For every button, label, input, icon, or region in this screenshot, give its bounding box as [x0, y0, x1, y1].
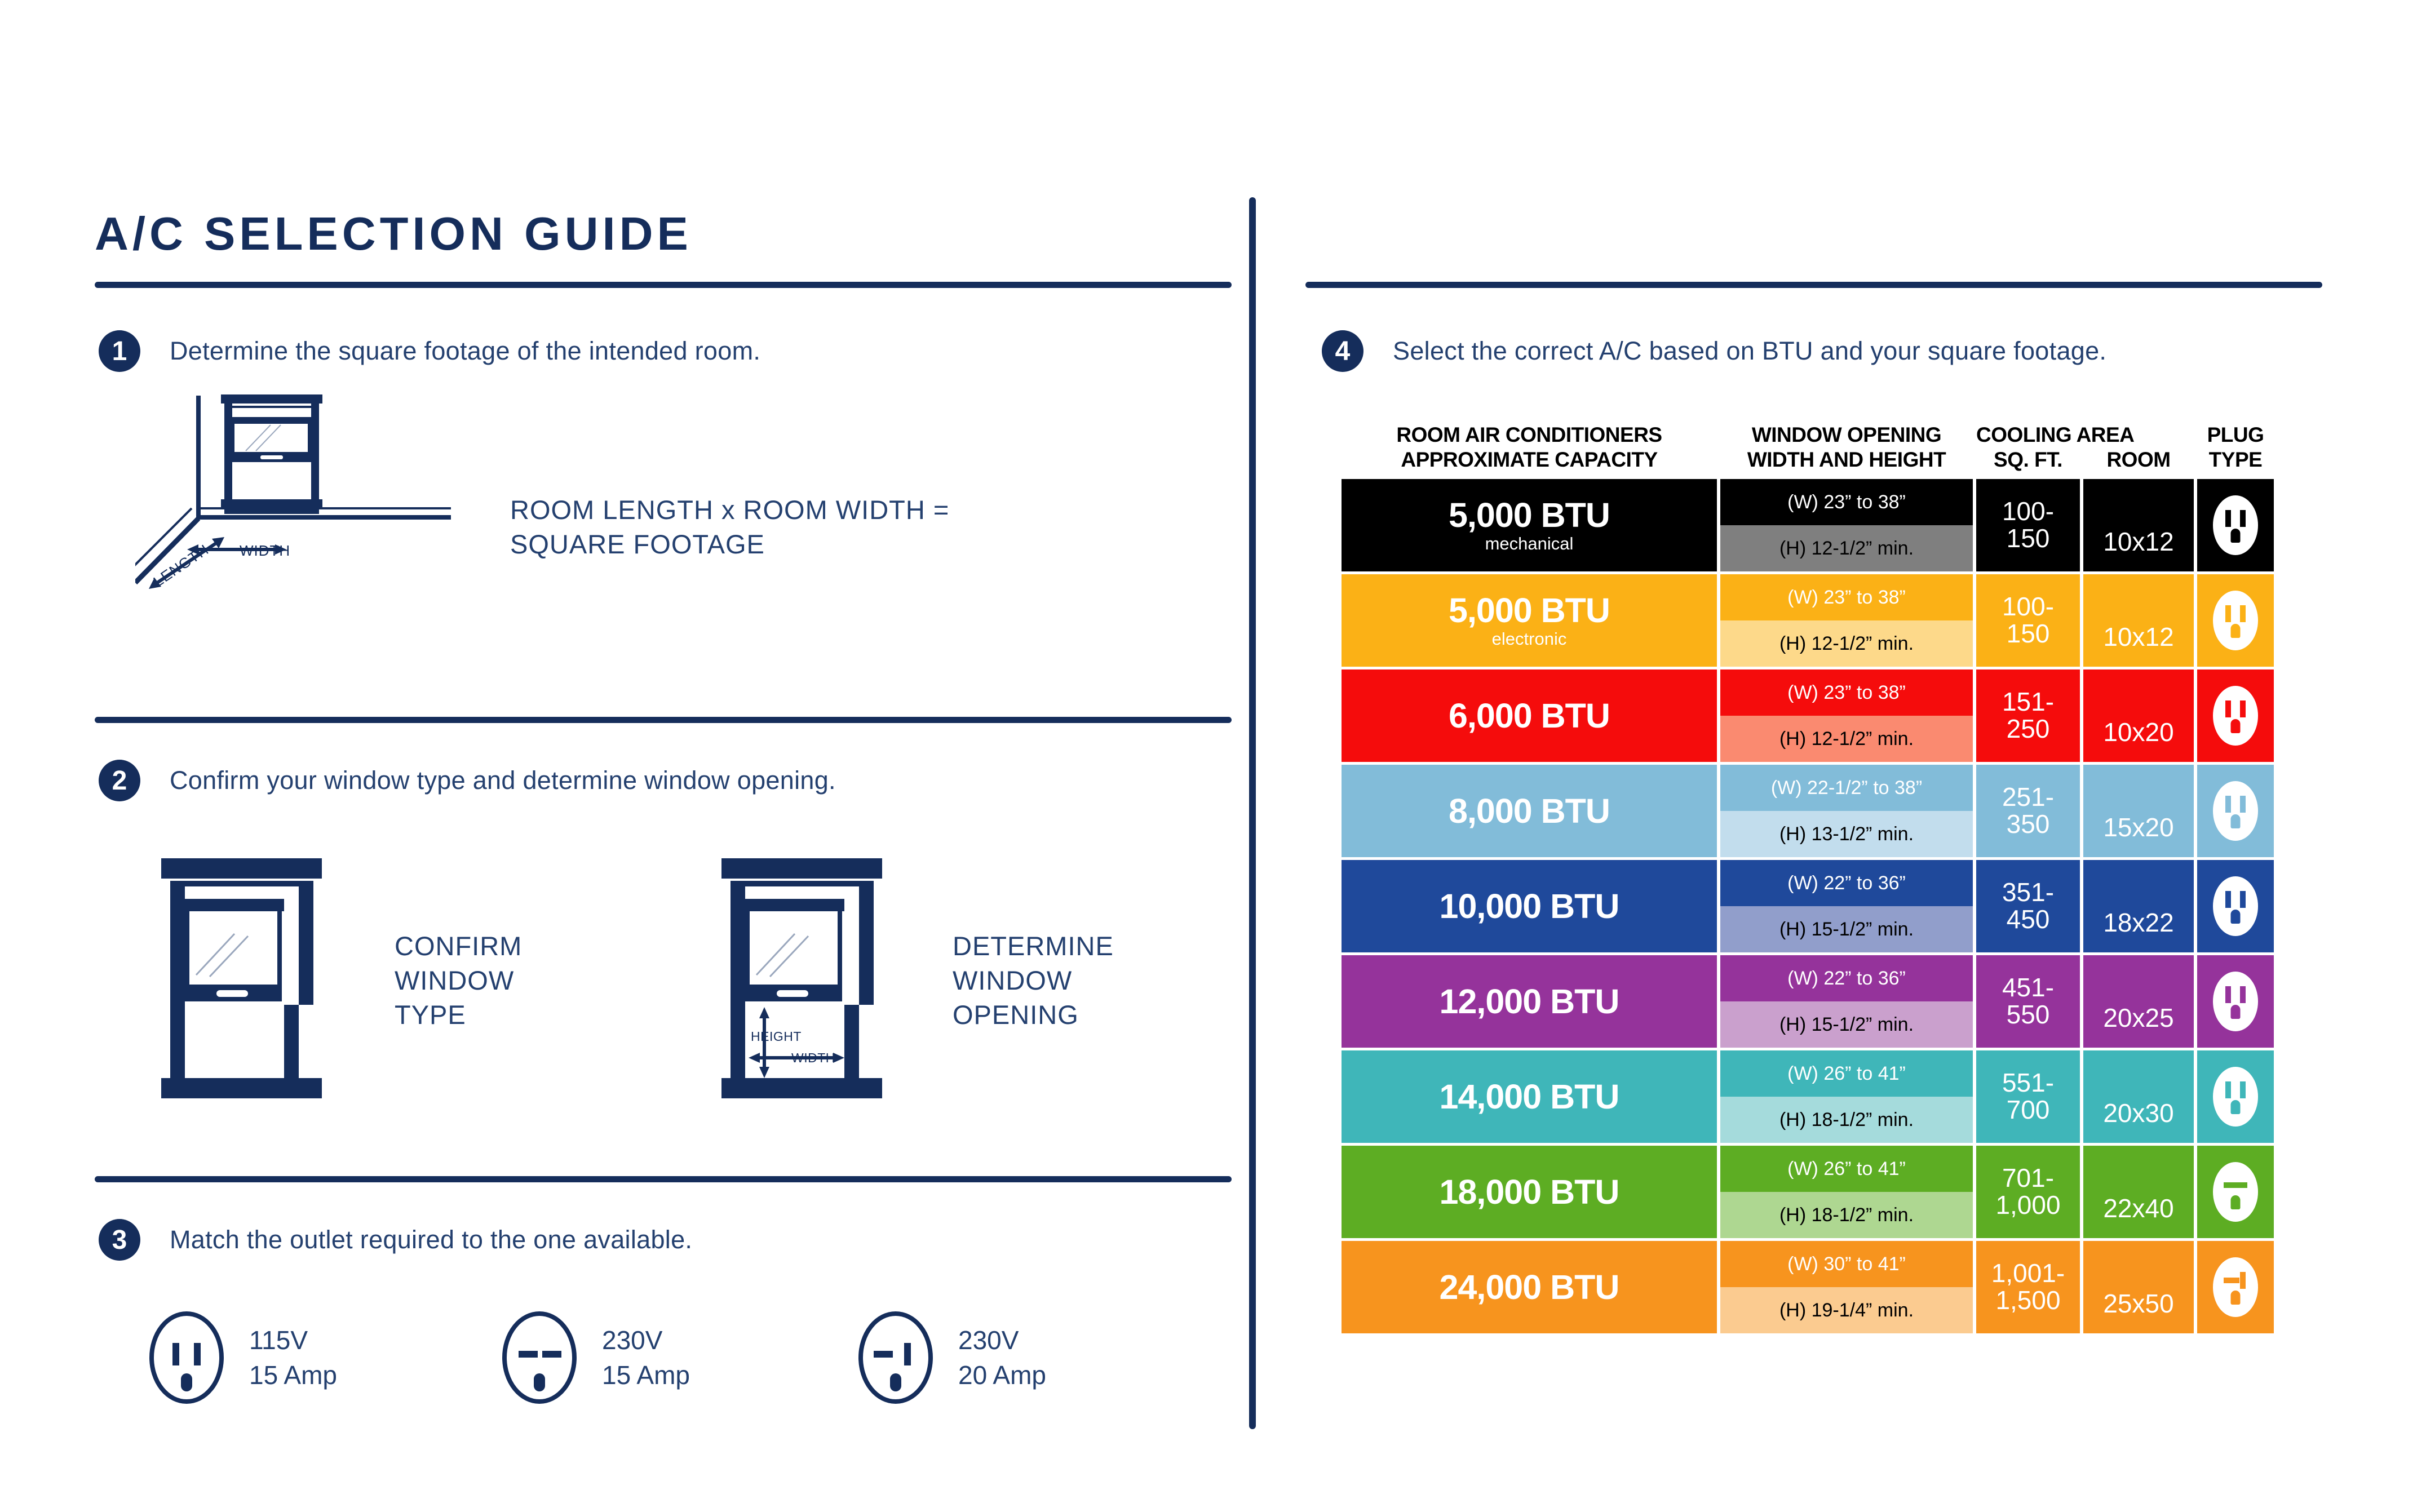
room-size-value: 10x20	[2103, 719, 2173, 745]
table-row[interactable]: 5,000 BTUelectronic(W) 23” to 38”(H) 12-…	[1342, 574, 2322, 667]
window-width-value: (W) 22-1/2” to 38”	[1720, 765, 1973, 811]
window-width-value: (W) 30” to 41”	[1720, 1241, 1973, 1287]
window-height-value: (H) 12-1/2” min.	[1720, 716, 1973, 762]
room-size-value: 22x40	[2103, 1195, 2173, 1221]
plug-slot	[2240, 1081, 2246, 1098]
btu-value: 5,000 BTU	[1449, 498, 1610, 533]
room-size-value: 25x50	[2103, 1291, 2173, 1316]
divider-rule-3	[95, 1176, 1232, 1182]
btu-value: 18,000 BTU	[1440, 1175, 1619, 1209]
btu-value: 10,000 BTU	[1440, 889, 1619, 924]
plug-face	[2213, 686, 2258, 746]
step-1: 1 Determine the square footage of the in…	[99, 330, 760, 372]
cell-plug-type	[2197, 765, 2274, 857]
step-4: 4 Select the correct A/C based on BTU an…	[1322, 330, 2106, 372]
cell-plug-type	[2197, 669, 2274, 762]
btu-value: 6,000 BTU	[1449, 699, 1610, 733]
btu-value: 14,000 BTU	[1440, 1080, 1619, 1114]
caption-b-line1: DETERMINE	[953, 929, 1114, 963]
sqft-value: 551-700	[2002, 1070, 2054, 1124]
plug-slot	[2225, 1081, 2231, 1098]
cell-capacity: 10,000 BTU	[1342, 860, 1717, 952]
btu-subtype: mechanical	[1485, 535, 1574, 552]
window-height-value: (H) 15-1/2” min.	[1720, 906, 1973, 952]
plug-ground-slot	[2231, 529, 2241, 543]
window-height-value: (H) 15-1/2” min.	[1720, 1001, 1973, 1048]
cell-capacity: 24,000 BTU	[1342, 1241, 1717, 1333]
room-size-value: 15x20	[2103, 814, 2173, 840]
table-row[interactable]: 18,000 BTU(W) 26” to 41”(H) 18-1/2” min.…	[1342, 1146, 2322, 1238]
window-width-value: (W) 26” to 41”	[1720, 1050, 1973, 1097]
plug-slot	[2240, 986, 2246, 1003]
btu-value: 24,000 BTU	[1440, 1270, 1619, 1305]
cell-window-opening: (W) 26” to 41”(H) 18-1/2” min.	[1720, 1146, 1973, 1238]
plug-slot	[2225, 605, 2231, 622]
sqft-value: 1,001-1,500	[1991, 1260, 2065, 1314]
cell-room-size: 25x50	[2083, 1241, 2194, 1333]
cell-capacity: 14,000 BTU	[1342, 1050, 1717, 1143]
room-size-value: 10x12	[2103, 624, 2173, 650]
sqft-value: 100-150	[2002, 593, 2054, 648]
outlet-1-volt: 115V	[249, 1323, 337, 1358]
cell-sqft: 451-550	[1976, 955, 2080, 1048]
cell-room-size: 20x30	[2083, 1050, 2194, 1143]
plug-slot	[2225, 796, 2231, 813]
sqft-value: 351-450	[2002, 879, 2054, 933]
outlet-230v-20a-icon	[857, 1310, 935, 1405]
plug-ground-slot	[2231, 1291, 2241, 1305]
table-header-row: ROOM AIR CONDITIONERS APPROXIMATE CAPACI…	[1342, 423, 2322, 472]
step-2-badge: 2	[99, 760, 140, 801]
cell-window-opening: (W) 22-1/2” to 38”(H) 13-1/2” min.	[1720, 765, 1973, 857]
plug-face	[2213, 1257, 2258, 1317]
outlet-2-amp: 15 Amp	[602, 1358, 690, 1393]
cell-sqft: 100-150	[1976, 479, 2080, 571]
window-height-value: (H) 18-1/2” min.	[1720, 1192, 1973, 1238]
outlet-1-amp: 15 Amp	[249, 1358, 337, 1393]
cell-plug-type	[2197, 479, 2274, 571]
outlet-1-label: 115V 15 Amp	[249, 1323, 337, 1393]
ac-selection-table: ROOM AIR CONDITIONERS APPROXIMATE CAPACI…	[1342, 423, 2322, 1333]
plug-ground-slot	[2231, 719, 2241, 733]
cell-room-size: 15x20	[2083, 765, 2194, 857]
sqft-value: 701-1,000	[1995, 1165, 2060, 1219]
outlet-option-115v-15a: 115V 15 Amp	[148, 1310, 337, 1405]
room-size-value: 10x12	[2103, 529, 2173, 555]
step-1-badge: 1	[99, 330, 140, 372]
step-4-badge: 4	[1322, 330, 1363, 372]
cell-capacity: 6,000 BTU	[1342, 669, 1717, 762]
height-label: HEIGHT	[751, 1029, 802, 1044]
room-diagram: WIDTH LENGTH	[135, 389, 530, 676]
caption-b-line3: OPENING	[953, 997, 1114, 1032]
outlet-2-volt: 230V	[602, 1323, 690, 1358]
plug-ground-slot	[2231, 1100, 2241, 1114]
cell-plug-type	[2197, 860, 2274, 952]
caption-a-line2: WINDOW	[395, 963, 522, 997]
cell-room-size: 10x12	[2083, 479, 2194, 571]
plug-ground-slot	[2231, 1005, 2241, 1019]
caption-a-line3: TYPE	[395, 997, 522, 1032]
formula-line-1: ROOM LENGTH x ROOM WIDTH =	[510, 493, 949, 527]
header-cooling-area-sqft: COOLING AREA SQ. FT.	[1976, 423, 2080, 472]
plug-ground-slot	[2231, 814, 2241, 828]
sqft-value: 151-250	[2002, 689, 2054, 743]
cell-window-opening: (W) 22” to 36”(H) 15-1/2” min.	[1720, 860, 1973, 952]
width-label-b: WIDTH	[791, 1050, 835, 1065]
step-3-text: Match the outlet required to the one ava…	[170, 1225, 692, 1254]
cell-sqft: 100-150	[1976, 574, 2080, 667]
table-row[interactable]: 12,000 BTU(W) 22” to 36”(H) 15-1/2” min.…	[1342, 955, 2322, 1048]
cell-sqft: 351-450	[1976, 860, 2080, 952]
step-4-text: Select the correct A/C based on BTU and …	[1393, 336, 2106, 366]
outlet-230v-15a-icon	[501, 1310, 578, 1405]
plug-face	[2213, 1067, 2258, 1127]
plug-slot	[2232, 1182, 2247, 1188]
window-type-caption: CONFIRM WINDOW TYPE	[395, 929, 522, 1032]
window-height-value: (H) 12-1/2” min.	[1720, 620, 1973, 667]
plug-slot	[2225, 891, 2231, 908]
width-label: WIDTH	[240, 542, 290, 559]
outlet-3-label: 230V 20 Amp	[958, 1323, 1046, 1393]
plug-face	[2213, 495, 2258, 555]
cell-plug-type	[2197, 1241, 2274, 1333]
outlet-3-amp: 20 Amp	[958, 1358, 1046, 1393]
divider-rule-1	[95, 282, 1232, 288]
outlet-3-volt: 230V	[958, 1323, 1046, 1358]
cell-window-opening: (W) 23” to 38”(H) 12-1/2” min.	[1720, 669, 1973, 762]
cell-plug-type	[2197, 955, 2274, 1048]
plug-face	[2213, 591, 2258, 650]
window-type-diagram	[156, 837, 365, 1119]
divider-rule-4	[1305, 282, 2322, 288]
plug-slot	[2240, 510, 2246, 527]
cell-plug-type	[2197, 1146, 2274, 1238]
left-panel: A/C SELECTION GUIDE 1 Determine the squa…	[0, 0, 1263, 1512]
btu-subtype: electronic	[1492, 630, 1567, 648]
room-size-value: 18x22	[2103, 910, 2173, 935]
table-row[interactable]: 5,000 BTUmechanical(W) 23” to 38”(H) 12-…	[1342, 479, 2322, 571]
plug-ground-slot	[2231, 1195, 2241, 1209]
plug-face	[2213, 781, 2258, 841]
cell-window-opening: (W) 30” to 41”(H) 19-1/4” min.	[1720, 1241, 1973, 1333]
step-3-badge: 3	[99, 1219, 140, 1261]
step-2: 2 Confirm your window type and determine…	[99, 760, 836, 801]
window-width-value: (W) 22” to 36”	[1720, 860, 1973, 906]
plug-slot	[2240, 1272, 2246, 1289]
square-footage-formula: ROOM LENGTH x ROOM WIDTH = SQUARE FOOTAG…	[510, 493, 949, 561]
cell-sqft: 151-250	[1976, 669, 2080, 762]
length-label: LENGTH	[150, 541, 212, 590]
table-row[interactable]: 8,000 BTU(W) 22-1/2” to 38”(H) 13-1/2” m…	[1342, 765, 2322, 857]
room-size-value: 20x30	[2103, 1100, 2173, 1126]
cell-sqft: 551-700	[1976, 1050, 2080, 1143]
cell-plug-type	[2197, 1050, 2274, 1143]
plug-slot	[2225, 510, 2231, 527]
header-capacity: ROOM AIR CONDITIONERS APPROXIMATE CAPACI…	[1342, 423, 1717, 472]
cell-capacity: 18,000 BTU	[1342, 1146, 1717, 1238]
table-row[interactable]: 10,000 BTU(W) 22” to 36”(H) 15-1/2” min.…	[1342, 860, 2322, 952]
window-height-value: (H) 13-1/2” min.	[1720, 811, 1973, 857]
page-title: A/C SELECTION GUIDE	[95, 207, 692, 261]
step-1-text: Determine the square footage of the inte…	[170, 336, 760, 366]
cell-room-size: 10x12	[2083, 574, 2194, 667]
window-width-value: (W) 22” to 36”	[1720, 955, 1973, 1001]
window-diagram-a-svg	[156, 837, 365, 1119]
cell-capacity: 5,000 BTUmechanical	[1342, 479, 1717, 571]
window-height-value: (H) 18-1/2” min.	[1720, 1097, 1973, 1143]
header-cooling-area-room: ROOM	[2083, 423, 2194, 472]
cell-window-opening: (W) 23” to 38”(H) 12-1/2” min.	[1720, 479, 1973, 571]
window-opening-diagram: HEIGHT WIDTH	[716, 837, 926, 1119]
cell-capacity: 12,000 BTU	[1342, 955, 1717, 1048]
plug-slot	[2224, 1278, 2239, 1283]
window-diagram-b-svg: HEIGHT WIDTH	[716, 837, 926, 1119]
btu-value: 5,000 BTU	[1449, 593, 1610, 628]
window-width-value: (W) 23” to 38”	[1720, 479, 1973, 525]
step-2-text: Confirm your window type and determine w…	[170, 766, 836, 795]
outlet-115v-15a-icon	[148, 1310, 225, 1405]
cell-window-opening: (W) 23” to 38”(H) 12-1/2” min.	[1720, 574, 1973, 667]
window-width-value: (W) 26” to 41”	[1720, 1146, 1973, 1192]
room-size-value: 20x25	[2103, 1005, 2173, 1031]
cell-plug-type	[2197, 574, 2274, 667]
divider-rule-2	[95, 717, 1232, 723]
cell-capacity: 8,000 BTU	[1342, 765, 1717, 857]
plug-face	[2213, 876, 2258, 936]
plug-slot	[2225, 700, 2231, 717]
cell-window-opening: (W) 22” to 36”(H) 15-1/2” min.	[1720, 955, 1973, 1048]
outlet-option-230v-15a: 230V 15 Amp	[501, 1310, 690, 1405]
plug-face	[2213, 1162, 2258, 1222]
cell-room-size: 20x25	[2083, 955, 2194, 1048]
cell-room-size: 10x20	[2083, 669, 2194, 762]
btu-value: 12,000 BTU	[1440, 985, 1619, 1019]
cell-window-opening: (W) 26” to 41”(H) 18-1/2” min.	[1720, 1050, 1973, 1143]
window-opening-caption: DETERMINE WINDOW OPENING	[953, 929, 1114, 1032]
infographic-page: A/C SELECTION GUIDE 1 Determine the squa…	[0, 0, 2426, 1512]
outlet-option-230v-20a: 230V 20 Amp	[857, 1310, 1046, 1405]
cell-room-size: 18x22	[2083, 860, 2194, 952]
plug-slot	[2240, 700, 2246, 717]
plug-slot	[2240, 796, 2246, 813]
window-width-value: (W) 23” to 38”	[1720, 669, 1973, 716]
formula-line-2: SQUARE FOOTAGE	[510, 527, 949, 561]
table-row[interactable]: 14,000 BTU(W) 26” to 41”(H) 18-1/2” min.…	[1342, 1050, 2322, 1143]
plug-ground-slot	[2231, 910, 2241, 924]
table-row[interactable]: 6,000 BTU(W) 23” to 38”(H) 12-1/2” min.1…	[1342, 669, 2322, 762]
outlet-2-label: 230V 15 Amp	[602, 1323, 690, 1393]
sqft-value: 100-150	[2002, 498, 2054, 552]
cell-sqft: 701-1,000	[1976, 1146, 2080, 1238]
table-row[interactable]: 24,000 BTU(W) 30” to 41”(H) 19-1/4” min.…	[1342, 1241, 2322, 1333]
cell-sqft: 1,001-1,500	[1976, 1241, 2080, 1333]
table-body: 5,000 BTUmechanical(W) 23” to 38”(H) 12-…	[1342, 479, 2322, 1333]
cell-room-size: 22x40	[2083, 1146, 2194, 1238]
plug-ground-slot	[2231, 624, 2241, 638]
btu-value: 8,000 BTU	[1449, 794, 1610, 828]
plug-slot	[2240, 891, 2246, 908]
cell-capacity: 5,000 BTUelectronic	[1342, 574, 1717, 667]
caption-a-line1: CONFIRM	[395, 929, 522, 963]
window-height-value: (H) 19-1/4” min.	[1720, 1287, 1973, 1333]
header-window-opening: WINDOW OPENING WIDTH AND HEIGHT	[1720, 423, 1973, 472]
sqft-value: 451-550	[2002, 974, 2054, 1028]
cell-sqft: 251-350	[1976, 765, 2080, 857]
room-corner-svg: WIDTH LENGTH	[135, 389, 530, 676]
window-height-value: (H) 12-1/2” min.	[1720, 525, 1973, 571]
plug-slot	[2240, 605, 2246, 622]
vertical-divider	[1249, 197, 1256, 1429]
plug-slot	[2225, 986, 2231, 1003]
header-plug-type: PLUG TYPE	[2197, 423, 2274, 472]
sqft-value: 251-350	[2002, 784, 2054, 838]
plug-face	[2213, 972, 2258, 1031]
step-3: 3 Match the outlet required to the one a…	[99, 1219, 692, 1261]
window-width-value: (W) 23” to 38”	[1720, 574, 1973, 620]
caption-b-line2: WINDOW	[953, 963, 1114, 997]
